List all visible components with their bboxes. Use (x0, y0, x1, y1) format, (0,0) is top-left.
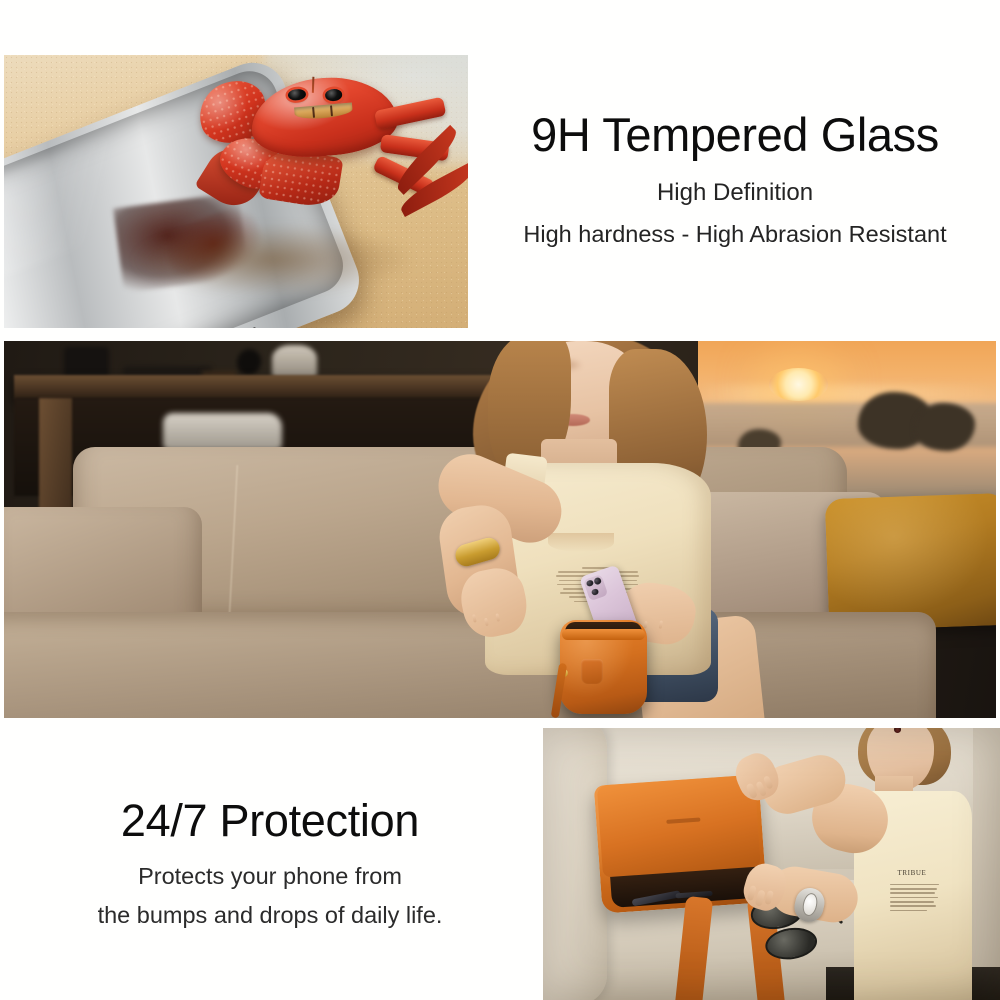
open-mouth (894, 728, 901, 733)
tote-brand-emboss (666, 817, 701, 824)
finger (484, 617, 488, 625)
phone-inside-bag (632, 890, 682, 906)
crab-eye-right (325, 89, 343, 102)
protection-subtitle-2: the bumps and drops of daily life. (60, 902, 480, 929)
shelf-vase (272, 345, 318, 379)
tote-front-panel (597, 774, 761, 877)
headline-subtitle-2: High hardness - High Abrasion Resistant (480, 221, 990, 248)
finger (495, 613, 499, 621)
sofa-armrest (543, 728, 607, 1000)
finger (659, 621, 663, 628)
crab-eye-left (288, 88, 306, 101)
background-pillow (163, 413, 282, 451)
headline-title: 9H Tempered Glass (480, 110, 990, 161)
crab-on-phone-photo (4, 55, 468, 328)
shirt-print-brand: TRIBUE (897, 868, 928, 879)
bag-brand-tag (581, 659, 604, 683)
crab-antenna (312, 77, 314, 93)
finger (472, 614, 476, 622)
tempered-glass-headline-block: 9H Tempered Glass High Definition High h… (480, 110, 990, 248)
woman-putting-phone-in-bag-photo (4, 341, 996, 718)
protection-title: 24/7 Protection (60, 795, 480, 847)
crab-icon (194, 63, 454, 249)
headline-subtitle-1: High Definition (480, 179, 990, 207)
finger (755, 890, 765, 907)
product-feature-page: 9H Tempered Glass High Definition High h… (0, 0, 1000, 1000)
shirt-print-lines (890, 881, 942, 940)
camera-island (583, 573, 608, 600)
protection-headline-block: 24/7 Protection Protects your phone from… (60, 795, 480, 929)
tank-neckline (548, 533, 614, 552)
crab-mouthparts (294, 102, 353, 120)
orange-leather-bag (560, 620, 647, 714)
woman-figure (421, 341, 798, 718)
watch-dial (801, 893, 819, 918)
ochre-throw-pillow (825, 492, 996, 630)
camera-lens (591, 588, 600, 597)
orange-tote-bag (594, 774, 767, 913)
distant-tree-2 (914, 403, 976, 451)
shelf-jar (64, 347, 110, 379)
finger (746, 885, 756, 902)
woman-shocked-at-bag-photo: TRIBUE (543, 728, 1000, 1000)
finger (764, 890, 774, 906)
camera-lens (593, 576, 602, 585)
bag-top-lip (562, 629, 645, 640)
shocked-woman-figure: TRIBUE (808, 728, 1000, 1000)
protection-subtitle-1: Protects your phone from (60, 863, 480, 890)
